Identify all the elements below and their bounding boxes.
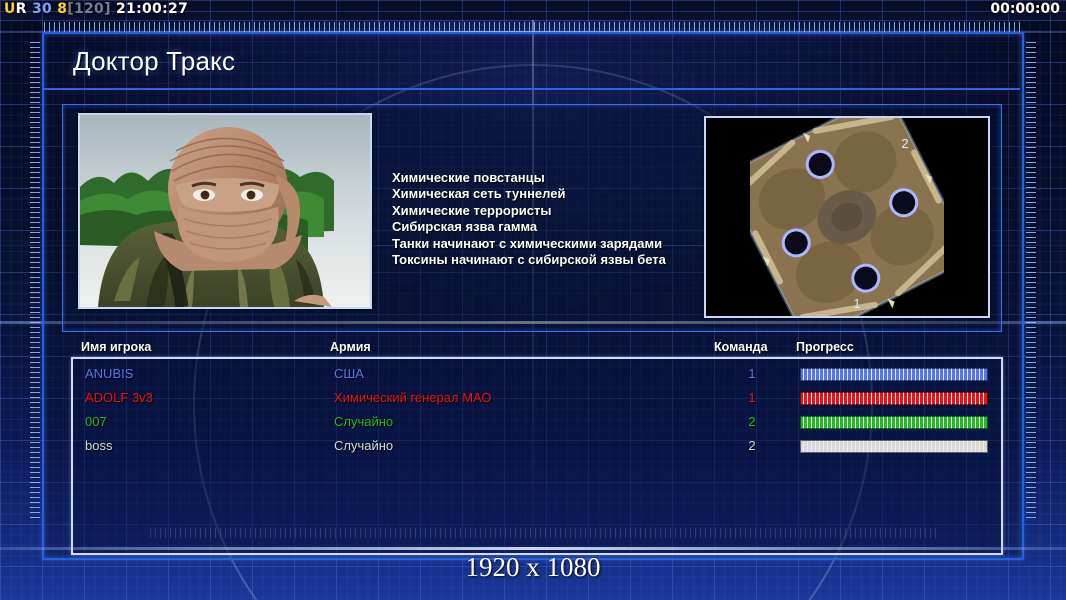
progress-bar bbox=[800, 392, 988, 405]
portrait-image bbox=[80, 115, 370, 307]
desc-line-1: Химические повстанцы bbox=[392, 170, 692, 186]
status-r-label: R bbox=[16, 1, 27, 17]
ruler-top bbox=[44, 22, 1024, 32]
player-team: 1 bbox=[745, 366, 759, 381]
minimap-marker-2: 2 bbox=[901, 136, 908, 151]
faction-portrait bbox=[78, 113, 372, 309]
player-team: 2 bbox=[745, 438, 759, 453]
player-name: ANUBIS bbox=[85, 366, 133, 381]
resolution-label: 1920 x 1080 bbox=[0, 552, 1066, 583]
player-team: 1 bbox=[745, 390, 759, 405]
map-description: Химические повстанцы Химическая сеть тун… bbox=[392, 170, 692, 268]
ruler-right bbox=[1026, 42, 1036, 522]
desc-line-3: Химические террористы bbox=[392, 203, 692, 219]
progress-bar bbox=[800, 440, 988, 453]
progress-bar bbox=[800, 416, 988, 429]
ruler-left bbox=[30, 42, 40, 522]
minimap-image: 2 1 bbox=[706, 118, 988, 316]
player-team: 2 bbox=[745, 414, 759, 429]
status-u-label: U bbox=[4, 1, 16, 17]
desc-line-6: Токсины начинают с сибирской язвы бета bbox=[392, 252, 692, 268]
status-value-8: 8 bbox=[57, 1, 67, 17]
title-bar: Доктор Тракс bbox=[42, 34, 1020, 90]
progress-bar bbox=[800, 368, 988, 381]
bottom-scanline bbox=[0, 547, 1066, 550]
minimap-preview[interactable]: 2 1 bbox=[704, 116, 990, 318]
player-army: США bbox=[334, 366, 364, 381]
table-row[interactable]: ADOLF 3v3Химический генерал МАО1 bbox=[73, 387, 1003, 411]
desc-line-5: Танки начинают с химическими зарядами bbox=[392, 236, 692, 252]
player-name: boss bbox=[85, 438, 112, 453]
desc-line-2: Химическая сеть туннелей bbox=[392, 186, 692, 202]
status-bar-left: UR 30 8[120] 21:00:27 bbox=[4, 1, 188, 17]
player-name: 007 bbox=[85, 414, 107, 429]
table-row[interactable]: ANUBISСША1 bbox=[73, 363, 1003, 387]
status-value-120: [120] bbox=[67, 1, 111, 17]
status-clock: 21:00:27 bbox=[116, 1, 188, 17]
header-player-name: Имя игрока bbox=[81, 340, 151, 354]
header-team: Команда bbox=[714, 340, 768, 354]
player-army: Случайно bbox=[334, 414, 393, 429]
status-bar: UR 30 8[120] 21:00:27 00:00:00 bbox=[0, 0, 1066, 20]
player-table-headers: Имя игрока Армия Команда Прогресс bbox=[62, 340, 1002, 358]
table-row[interactable]: 007Случайно2 bbox=[73, 411, 1003, 435]
status-value-30: 30 bbox=[32, 1, 52, 17]
player-army: Химический генерал МАО bbox=[334, 390, 492, 405]
header-army: Армия bbox=[330, 340, 371, 354]
status-timer: 00:00:00 bbox=[990, 1, 1060, 17]
minimap-marker-1: 1 bbox=[853, 296, 860, 311]
header-progress: Прогресс bbox=[796, 340, 854, 354]
player-name: ADOLF 3v3 bbox=[85, 390, 153, 405]
page-title: Доктор Тракс bbox=[73, 46, 235, 77]
player-army: Случайно bbox=[334, 438, 393, 453]
desc-line-4: Сибирская язва гамма bbox=[392, 219, 692, 235]
table-row[interactable]: bossСлучайно2 bbox=[73, 435, 1003, 459]
player-list-panel: ANUBISСША1ADOLF 3v3Химический генерал МА… bbox=[71, 357, 1003, 555]
